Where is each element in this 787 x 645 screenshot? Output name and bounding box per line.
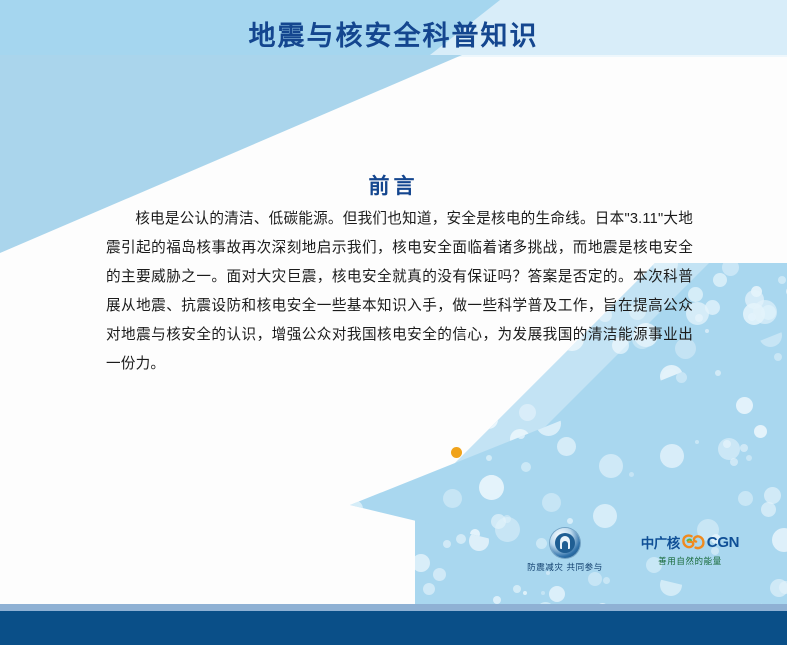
preface-heading: 前言 bbox=[0, 170, 787, 200]
footer-logo-row: 防震减灾 共同参与 中广核 CGN 善用自然的能量 bbox=[495, 528, 765, 584]
cgn-swirl-icon bbox=[682, 534, 705, 550]
cgn-english-name: CGN bbox=[707, 534, 739, 551]
cgn-chinese-name: 中广核 bbox=[641, 532, 680, 552]
page-title: 地震与核安全科普知识 bbox=[0, 14, 787, 53]
preface-body-text: 核电是公认的清洁、低碳能源。但我们也知道，安全是核电的生命线。日本"3.11"大… bbox=[106, 205, 693, 379]
shelter-house-icon bbox=[560, 536, 570, 549]
earthquake-prevention-seal-icon bbox=[550, 528, 580, 558]
cgn-logo: 中广核 CGN 善用自然的能量 bbox=[615, 532, 765, 567]
earthquake-agency-logo: 防震减灾 共同参与 bbox=[505, 528, 625, 573]
cgn-wordmark: 中广核 CGN bbox=[615, 532, 765, 552]
poster-canvas: 地震与核安全科普知识 前言 核电是公认的清洁、低碳能源。但我们也知道，安全是核电… bbox=[0, 0, 787, 645]
earthquake-agency-tagline: 防震减灾 共同参与 bbox=[505, 561, 625, 573]
cgn-tagline: 善用自然的能量 bbox=[615, 555, 765, 567]
poster-content: 地震与核安全科普知识 前言 核电是公认的清洁、低碳能源。但我们也知道，安全是核电… bbox=[0, 0, 787, 645]
